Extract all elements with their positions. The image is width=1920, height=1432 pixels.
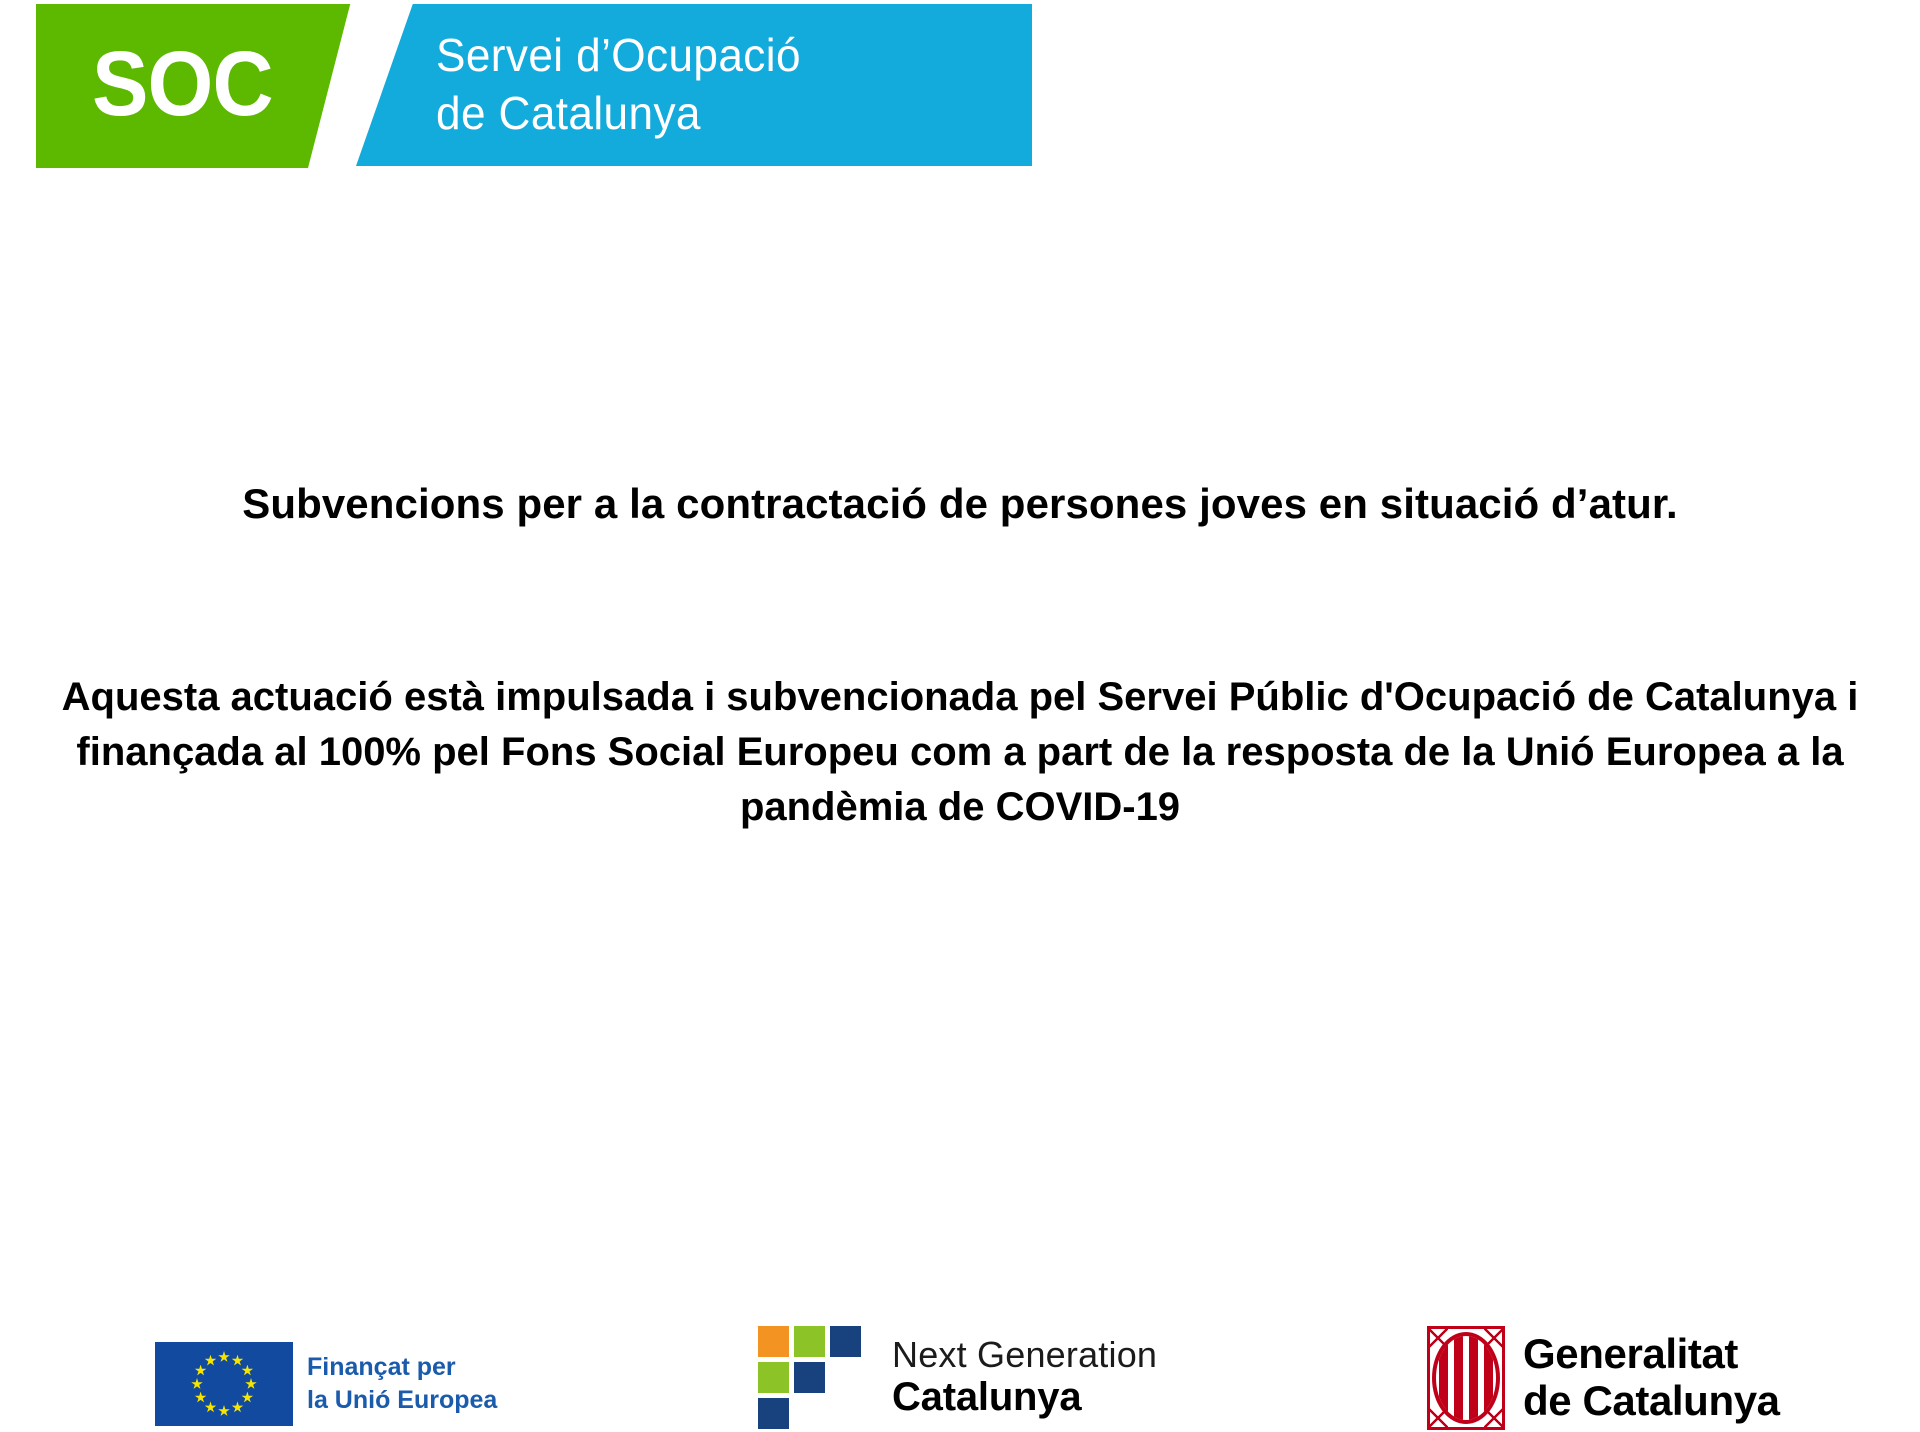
eu-star-icon <box>245 1378 257 1390</box>
next-generation-square <box>794 1362 825 1393</box>
senyera-corner-ornament <box>1484 1407 1504 1429</box>
eu-star-icon <box>218 1351 230 1363</box>
next-generation-line-2: Catalunya <box>892 1375 1157 1419</box>
senyera-corner-ornament <box>1484 1327 1504 1349</box>
generalitat-line-1: Generalitat <box>1523 1330 1780 1377</box>
soc-tagline-line-2: de Catalunya <box>436 84 801 142</box>
soc-logo-tagline: Servei d’Ocupació de Catalunya <box>436 26 801 142</box>
page-title: Subvencions per a la contractació de per… <box>0 478 1920 530</box>
generalitat-line-2: de Catalunya <box>1523 1377 1780 1424</box>
eu-star-icon <box>205 1355 217 1367</box>
eu-star-icon <box>205 1401 217 1413</box>
next-generation-line-1: Next Generation <box>892 1335 1157 1375</box>
next-generation-square <box>758 1362 789 1393</box>
senyera-corner-ornament <box>1428 1407 1448 1429</box>
next-generation-square <box>830 1326 861 1357</box>
generalitat-de-catalunya-logo: Generalitat de Catalunya <box>1427 1326 1780 1430</box>
eu-star-icon <box>191 1378 203 1390</box>
eu-star-icon <box>195 1365 207 1377</box>
eu-star-icon <box>241 1392 253 1404</box>
eu-flag-icon <box>155 1342 293 1426</box>
next-generation-square <box>758 1398 789 1429</box>
eu-funding-logo: Finançat per la Unió Europea <box>155 1342 497 1426</box>
senyera-shield-icon <box>1427 1326 1505 1430</box>
next-generation-squares-icon <box>758 1326 864 1430</box>
footer-logo-bar: Finançat per la Unió Europea Next Genera… <box>0 1320 1920 1432</box>
next-generation-square <box>758 1326 789 1357</box>
funding-statement: Aquesta actuació està impulsada i subven… <box>0 670 1920 835</box>
next-generation-label: Next Generation Catalunya <box>892 1335 1157 1421</box>
next-generation-square <box>794 1326 825 1357</box>
eu-star-icon <box>241 1365 253 1377</box>
senyera-stripe <box>1469 1336 1478 1420</box>
eu-label-line-1: Finançat per <box>307 1351 497 1384</box>
soc-acronym: SOC <box>92 32 273 136</box>
senyera-stripe <box>1454 1336 1463 1420</box>
senyera-corner-ornament <box>1428 1327 1448 1349</box>
eu-star-icon <box>195 1392 207 1404</box>
eu-star-icon <box>232 1401 244 1413</box>
soc-logo: SOC Servei d’Ocupació de Catalunya <box>36 4 996 168</box>
generalitat-label: Generalitat de Catalunya <box>1523 1330 1780 1426</box>
eu-label-line-2: la Unió Europea <box>307 1384 497 1417</box>
eu-star-icon <box>232 1355 244 1367</box>
soc-tagline-line-1: Servei d’Ocupació <box>436 26 801 84</box>
eu-funding-label: Finançat per la Unió Europea <box>307 1351 497 1417</box>
eu-star-icon <box>218 1405 230 1417</box>
next-generation-catalunya-logo: Next Generation Catalunya <box>758 1326 1157 1430</box>
